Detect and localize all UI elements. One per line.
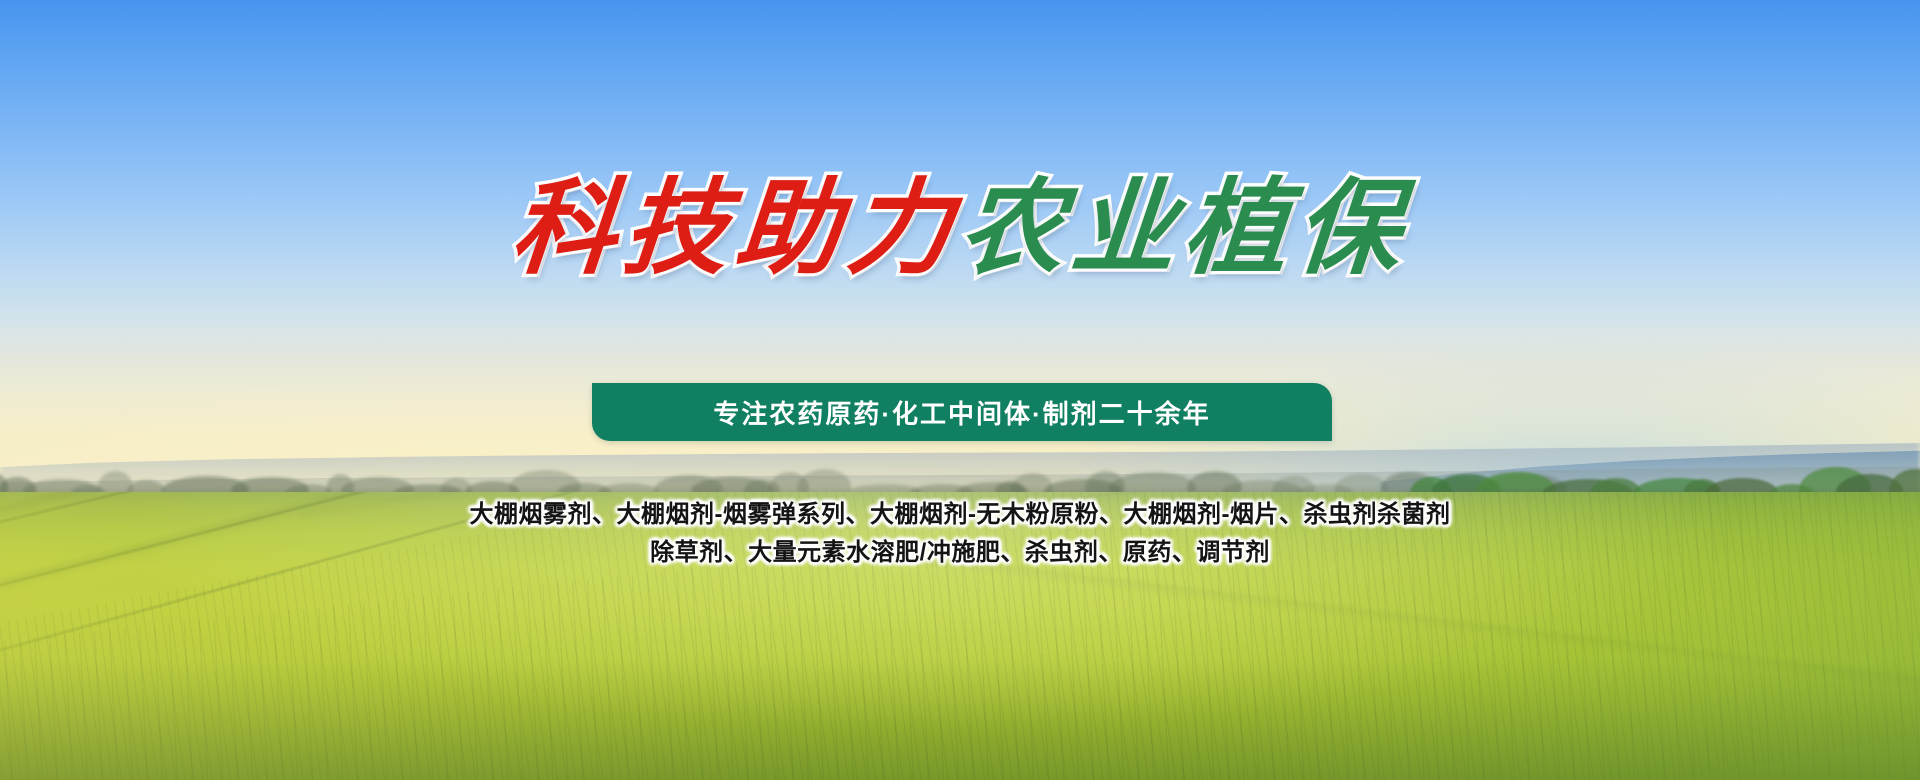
- hero-banner: 科技助力农业植保 专注农药原药·化工中间体·制剂二十余年 大棚烟雾剂、大棚烟剂-…: [0, 0, 1920, 780]
- field-foreground-shade: [0, 660, 1920, 780]
- crop-field: [0, 492, 1920, 780]
- tagline-badge: 专注农药原药·化工中间体·制剂二十余年: [592, 383, 1332, 441]
- tagline-badge-text: 专注农药原药·化工中间体·制剂二十余年: [713, 394, 1210, 431]
